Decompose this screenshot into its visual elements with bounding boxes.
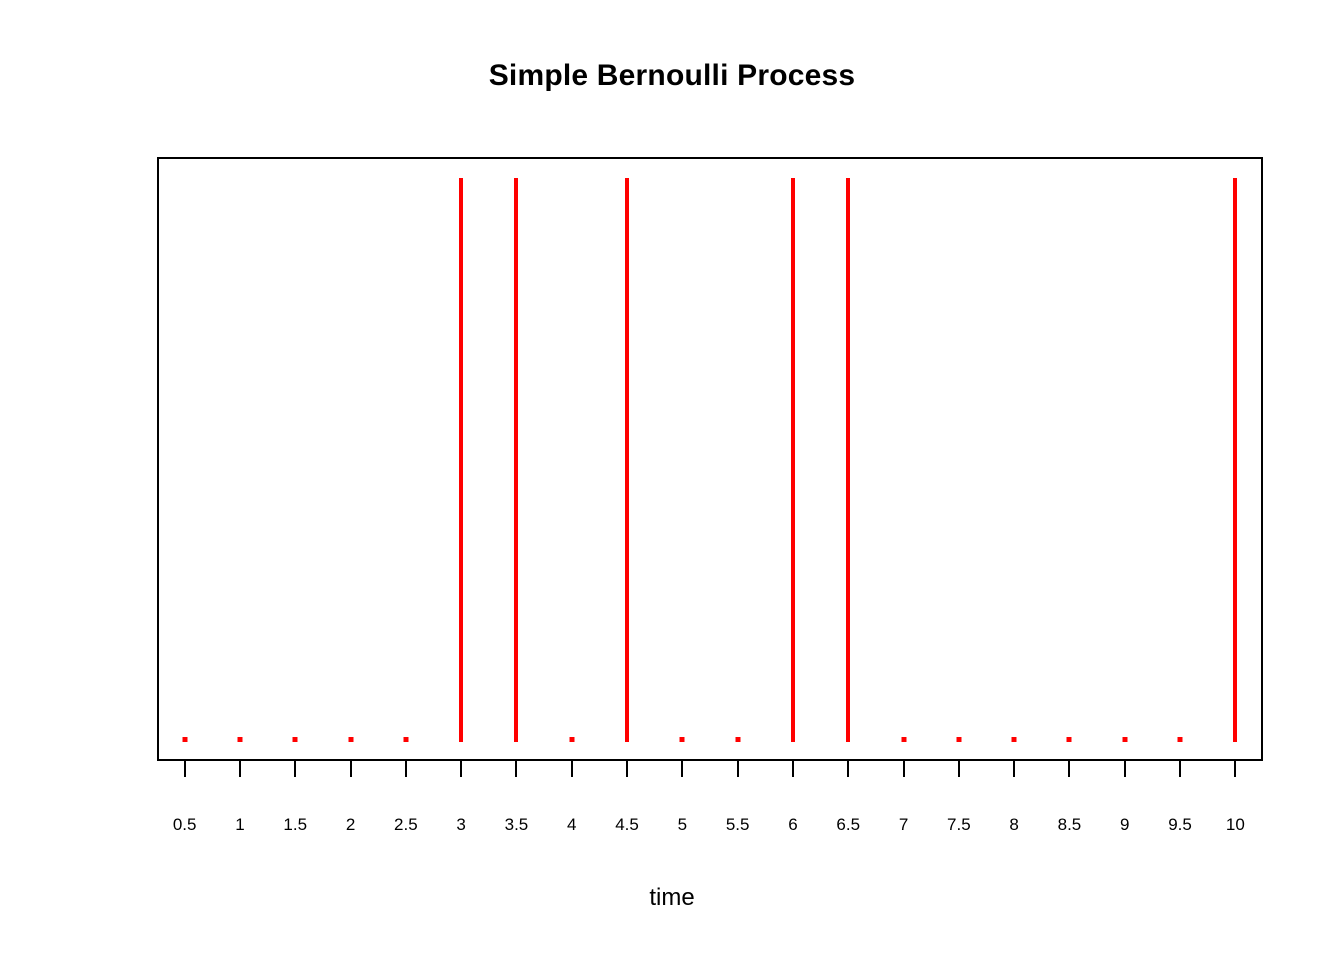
x-axis-tick-label: 7.5 <box>947 815 971 835</box>
x-axis-tick-label: 1.5 <box>283 815 307 835</box>
x-axis-tick-label: 8.5 <box>1058 815 1082 835</box>
x-axis-tick <box>626 761 628 777</box>
x-axis-tick-label: 9 <box>1120 815 1129 835</box>
x-axis-tick <box>460 761 462 777</box>
x-axis-tick-label: 3 <box>456 815 465 835</box>
x-axis-tick-label: 2.5 <box>394 815 418 835</box>
chart-canvas: Simple Bernoulli Process 0.511.522.533.5… <box>0 0 1344 960</box>
x-axis-tick-label: 4 <box>567 815 576 835</box>
x-axis-tick-label: 2 <box>346 815 355 835</box>
x-axis-tick-label: 7 <box>899 815 908 835</box>
x-axis-tick-label: 4.5 <box>615 815 639 835</box>
x-axis-tick <box>239 761 241 777</box>
x-axis-tick-label: 3.5 <box>505 815 529 835</box>
x-axis-tick <box>792 761 794 777</box>
x-axis-tick <box>515 761 517 777</box>
x-axis-tick-label: 5.5 <box>726 815 750 835</box>
x-axis-tick <box>184 761 186 777</box>
x-axis-tick <box>1124 761 1126 777</box>
x-axis-tick-label: 6.5 <box>836 815 860 835</box>
x-axis-tick-label: 6 <box>788 815 797 835</box>
x-axis-tick <box>1234 761 1236 777</box>
x-axis-tick <box>1013 761 1015 777</box>
x-axis-tick-label: 5 <box>678 815 687 835</box>
x-axis-tick-label: 0.5 <box>173 815 197 835</box>
x-axis-tick <box>1068 761 1070 777</box>
x-axis-tick <box>294 761 296 777</box>
x-axis-tick <box>737 761 739 777</box>
x-axis-tick-label: 9.5 <box>1168 815 1192 835</box>
x-axis-tick <box>405 761 407 777</box>
x-axis-tick <box>350 761 352 777</box>
x-axis-tick <box>847 761 849 777</box>
x-axis-tick <box>958 761 960 777</box>
x-axis-tick <box>681 761 683 777</box>
x-axis-tick <box>1179 761 1181 777</box>
x-axis-tick-label: 10 <box>1226 815 1245 835</box>
x-axis-title: time <box>0 884 1344 912</box>
x-axis-tick-label: 1 <box>235 815 244 835</box>
x-axis: 0.511.522.533.544.555.566.577.588.599.51… <box>0 0 1344 960</box>
x-axis-tick-label: 8 <box>1009 815 1018 835</box>
x-axis-tick <box>903 761 905 777</box>
x-axis-tick <box>571 761 573 777</box>
